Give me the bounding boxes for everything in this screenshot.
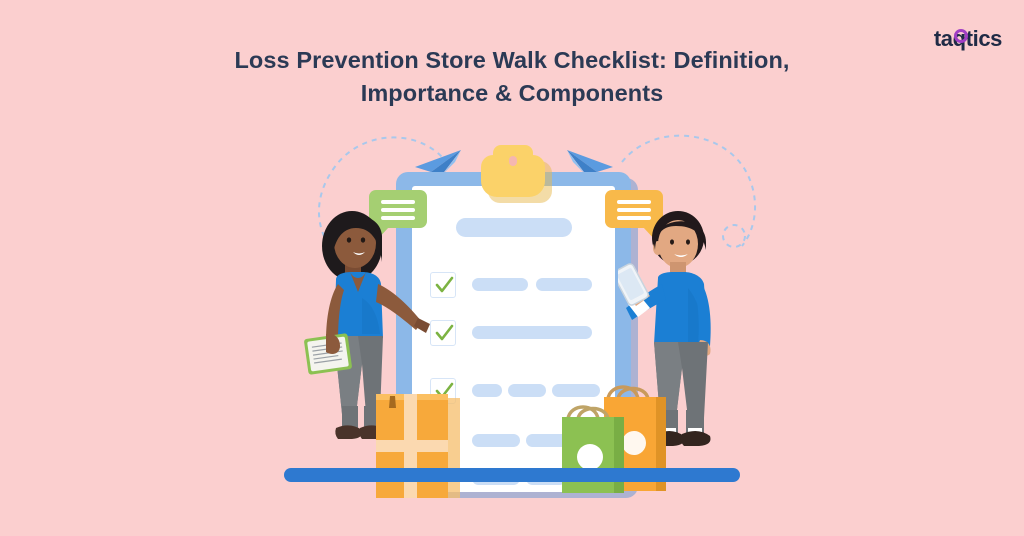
check-icon — [434, 323, 455, 344]
brand-logo[interactable]: taqtics — [934, 28, 1002, 50]
checklist-row-4-bar-a — [472, 434, 520, 447]
magnifier-ring-icon — [954, 29, 968, 43]
checklist-title-bar — [456, 218, 572, 237]
checklist-checkbox-1[interactable] — [430, 272, 456, 298]
checklist-row-3-bar-a — [472, 384, 502, 397]
check-icon — [434, 275, 455, 296]
logo-text-before: ta — [934, 28, 953, 50]
logo-q-mark: q — [953, 28, 966, 50]
clipboard-clip — [481, 155, 545, 197]
checklist-row-2-bar-a — [472, 326, 592, 339]
checklist-checkbox-2[interactable] — [430, 320, 456, 346]
floor-platform — [284, 468, 740, 482]
hero-illustration — [0, 128, 1024, 508]
page-title: Loss Prevention Store Walk Checklist: De… — [180, 44, 844, 110]
logo-text-after: tics — [966, 28, 1002, 50]
page-title-line-2: Importance & Components — [180, 77, 844, 110]
page-root: Loss Prevention Store Walk Checklist: De… — [0, 0, 1024, 536]
checklist-row-3-bar-b — [508, 384, 546, 397]
page-title-line-1: Loss Prevention Store Walk Checklist: De… — [180, 44, 844, 77]
checklist-row-1-bar-a — [472, 278, 528, 291]
checklist-row-1-bar-b — [536, 278, 592, 291]
